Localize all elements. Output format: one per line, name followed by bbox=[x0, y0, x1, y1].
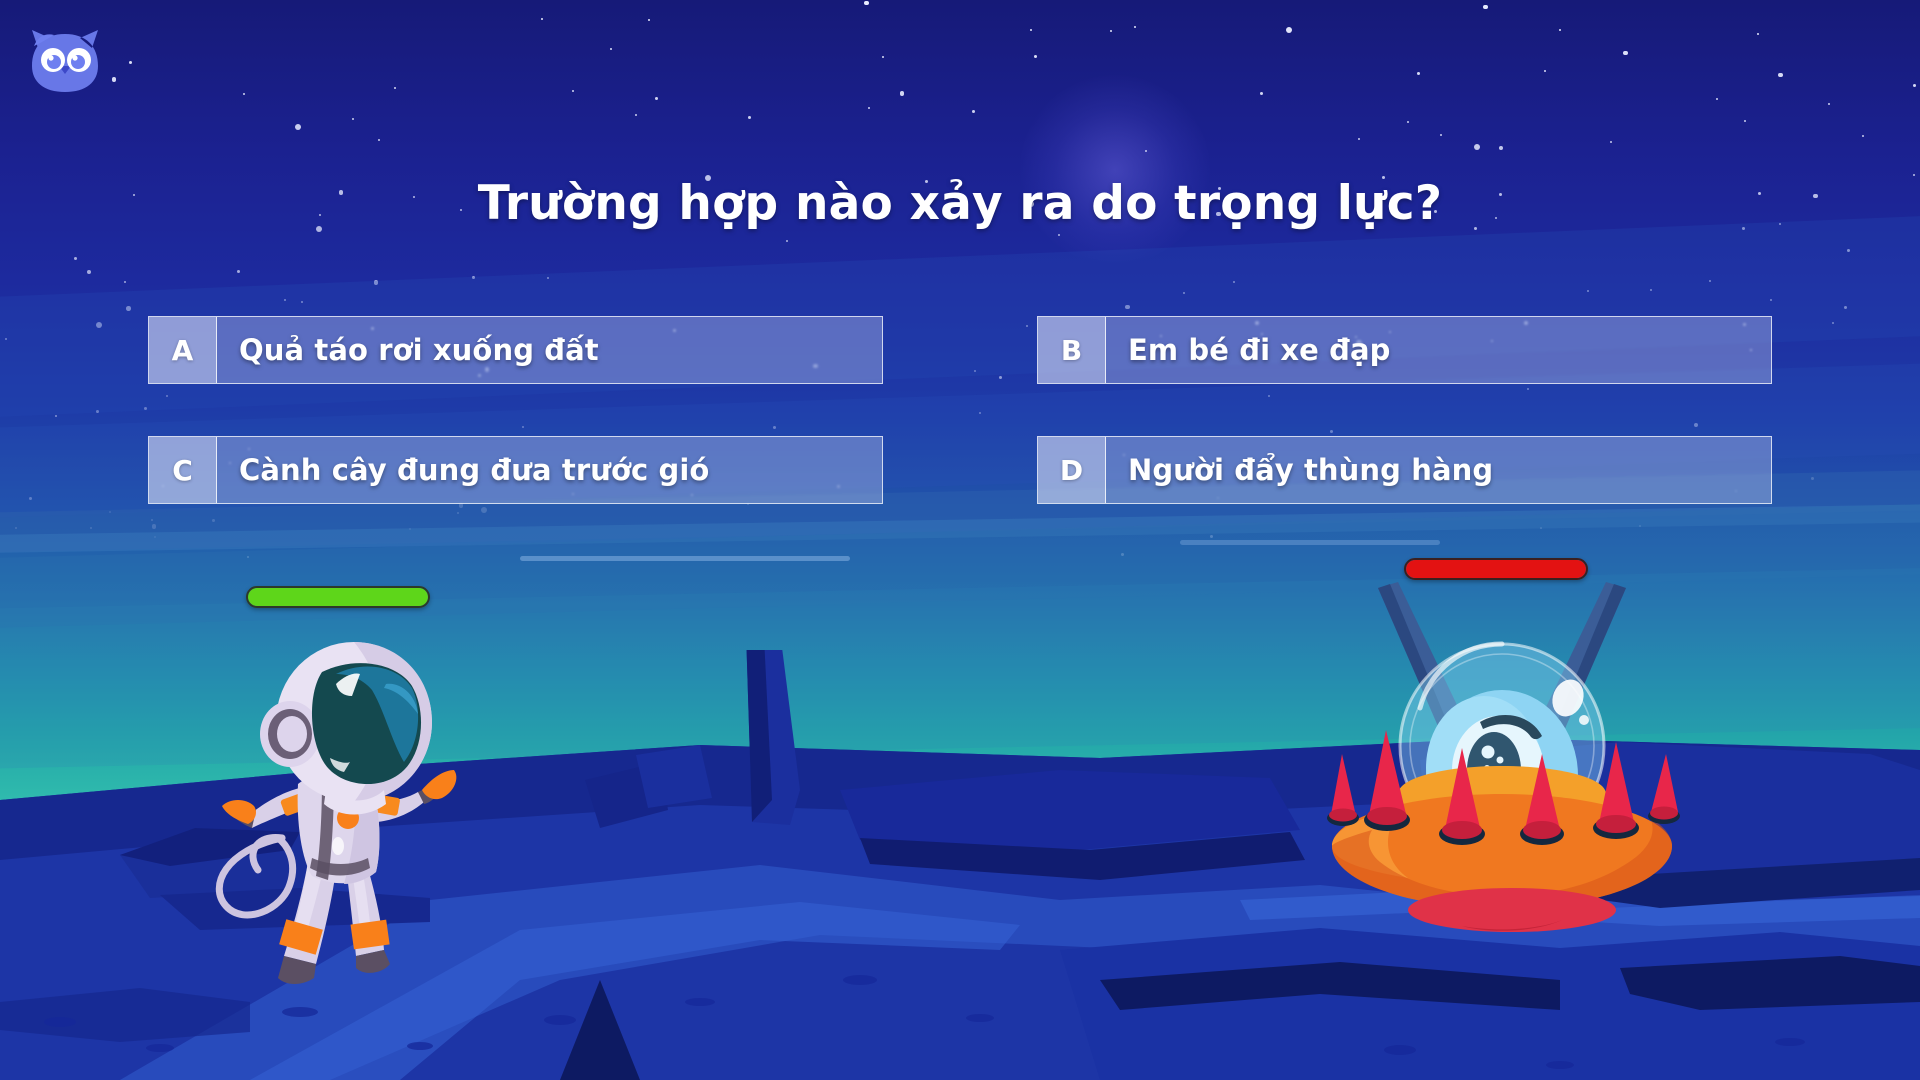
star bbox=[295, 124, 301, 130]
star bbox=[55, 415, 57, 417]
answer-letter-a: A bbox=[149, 317, 217, 383]
star bbox=[1110, 30, 1112, 32]
star bbox=[112, 77, 117, 82]
star bbox=[129, 61, 132, 64]
answer-letter-c: C bbox=[149, 437, 217, 503]
star bbox=[243, 93, 245, 95]
star bbox=[352, 118, 354, 120]
star bbox=[1034, 55, 1037, 58]
star bbox=[882, 56, 884, 58]
star bbox=[1544, 70, 1546, 72]
answer-options-grid: A Quả táo rơi xuống đất B Em bé đi xe đạ… bbox=[148, 316, 1772, 504]
star bbox=[1058, 234, 1060, 236]
answer-text-c: Cành cây đung đưa trước gió bbox=[217, 437, 882, 503]
cloud-wisp bbox=[520, 556, 850, 561]
star bbox=[786, 240, 788, 242]
question-title: Trường hợp nào xảy ra do trọng lực? bbox=[0, 176, 1920, 231]
answer-text-b: Em bé đi xe đạp bbox=[1106, 317, 1771, 383]
star bbox=[237, 270, 240, 273]
star bbox=[1440, 134, 1442, 136]
answer-option-a[interactable]: A Quả táo rơi xuống đất bbox=[148, 316, 883, 384]
star bbox=[124, 281, 126, 283]
answer-text-a: Quả táo rơi xuống đất bbox=[217, 317, 882, 383]
player-health-fill bbox=[248, 588, 428, 606]
enemy-health-fill bbox=[1406, 560, 1586, 578]
player-health-bar bbox=[246, 586, 430, 608]
star bbox=[1483, 5, 1488, 10]
star bbox=[378, 139, 380, 141]
star bbox=[900, 91, 905, 96]
answer-option-b[interactable]: B Em bé đi xe đạp bbox=[1037, 316, 1772, 384]
star bbox=[1260, 92, 1263, 95]
quiz-game-screen: Trường hợp nào xảy ra do trọng lực? A Qu… bbox=[0, 0, 1920, 1080]
star bbox=[655, 97, 658, 100]
astronaut-character bbox=[186, 638, 476, 988]
star bbox=[572, 90, 574, 92]
star bbox=[394, 87, 396, 89]
answer-option-c[interactable]: C Cành cây đung đưa trước gió bbox=[148, 436, 883, 504]
cloud-wisp bbox=[1180, 540, 1440, 545]
answer-text-d: Người đẩy thùng hàng bbox=[1106, 437, 1771, 503]
owl-mascot-logo[interactable] bbox=[24, 26, 106, 98]
answer-letter-b: B bbox=[1038, 317, 1106, 383]
answer-letter-d: D bbox=[1038, 437, 1106, 503]
star bbox=[1134, 26, 1136, 28]
star bbox=[1623, 51, 1628, 56]
star bbox=[748, 116, 751, 119]
nebula-glow bbox=[1020, 75, 1210, 265]
enemy-health-bar bbox=[1404, 558, 1588, 580]
alien-ufo-character bbox=[1312, 578, 1692, 948]
answer-option-d[interactable]: D Người đẩy thùng hàng bbox=[1037, 436, 1772, 504]
